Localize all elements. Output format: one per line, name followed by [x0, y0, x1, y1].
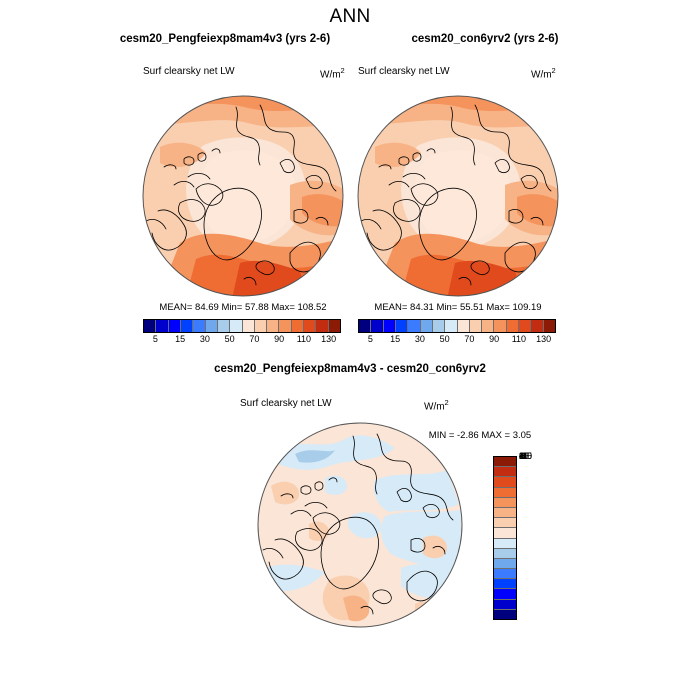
colorbar-tick-label: 5 [153, 334, 158, 344]
units-label-diff: W/m2 [424, 398, 449, 412]
colorbar-cell [292, 320, 304, 332]
variable-label-right: Surf clearsky net LW [358, 66, 450, 77]
colorbar-left [143, 319, 341, 333]
colorbar-tick-label: 90 [489, 334, 499, 344]
colorbar-cell [230, 320, 242, 332]
units-text-left: W/m [320, 69, 341, 80]
map-plot-diff [255, 420, 465, 630]
colorbar-cell [156, 320, 168, 332]
colorbar-cell [494, 508, 516, 518]
colorbar-cell [316, 320, 328, 332]
colorbar-tick-label: 110 [512, 334, 526, 344]
colorbar-cell [458, 320, 470, 332]
colorbar-cell [494, 477, 516, 487]
colorbar-tick-label: 130 [321, 334, 336, 344]
colorbar-tick-label: 130 [536, 334, 551, 344]
variable-label-left: Surf clearsky net LW [143, 66, 235, 77]
colorbar-tick-label: 70 [249, 334, 259, 344]
colorbar-cell [408, 320, 420, 332]
colorbar-tick-label: 70 [464, 334, 474, 344]
colorbar-tick-label: 30 [200, 334, 210, 344]
colorbar-left-ticks: 51530507090110130 [143, 334, 341, 346]
panel-title-diff: cesm20_Pengfeiexp8mam4v3 - cesm20_con6yr… [165, 363, 535, 375]
colorbar-tick-label: -20 [519, 451, 532, 461]
colorbar-cell [494, 518, 516, 528]
units-exponent-diff: 2 [445, 398, 449, 407]
colorbar-tick-label: 110 [297, 334, 311, 344]
colorbar-tick-label: 50 [225, 334, 235, 344]
colorbar-cell [169, 320, 181, 332]
colorbar-cell [144, 320, 156, 332]
panel-title-right: cesm20_con6yrv2 (yrs 2-6) [300, 33, 670, 45]
colorbar-cell [494, 320, 506, 332]
units-label-left: W/m2 [320, 66, 345, 80]
colorbar-cell [206, 320, 218, 332]
colorbar-cell [243, 320, 255, 332]
colorbar-tick-label: 90 [274, 334, 284, 344]
colorbar-cell [329, 320, 340, 332]
colorbar-cell [544, 320, 555, 332]
colorbar-cell [482, 320, 494, 332]
colorbar-cell [255, 320, 267, 332]
colorbar-cell [181, 320, 193, 332]
units-label-right: W/m2 [531, 66, 556, 80]
colorbar-cell [494, 457, 516, 467]
colorbar-cell [494, 600, 516, 610]
colorbar-cell [494, 467, 516, 477]
colorbar-cell [371, 320, 383, 332]
colorbar-cell [193, 320, 205, 332]
colorbar-cell [494, 610, 516, 619]
colorbar-cell [494, 498, 516, 508]
colorbar-cell [494, 549, 516, 559]
units-exponent-left: 2 [341, 66, 345, 75]
colorbar-cell [507, 320, 519, 332]
page-title: ANN [0, 6, 700, 28]
colorbar-cell [359, 320, 371, 332]
map-plot-right [355, 93, 561, 299]
colorbar-cell [279, 320, 291, 332]
stats-left: MEAN= 84.69 Min= 57.88 Max= 108.52 [140, 302, 346, 313]
colorbar-cell [433, 320, 445, 332]
colorbar-cell [396, 320, 408, 332]
colorbar-cell [494, 579, 516, 589]
colorbar-tick-label: 50 [440, 334, 450, 344]
colorbar-cell [267, 320, 279, 332]
colorbar-cell [494, 569, 516, 579]
colorbar-cell [421, 320, 433, 332]
colorbar-cell [218, 320, 230, 332]
colorbar-cell [494, 488, 516, 498]
units-text-diff: W/m [424, 401, 445, 412]
colorbar-tick-label: 15 [175, 334, 185, 344]
variable-label-diff: Surf clearsky net LW [240, 398, 332, 409]
colorbar-cell [494, 528, 516, 538]
stats-right: MEAN= 84.31 Min= 55.51 Max= 109.19 [355, 302, 561, 313]
units-exponent-right: 2 [552, 66, 556, 75]
colorbar-diff [493, 456, 517, 620]
colorbar-cell [445, 320, 457, 332]
colorbar-cell [531, 320, 543, 332]
colorbar-tick-label: 15 [390, 334, 400, 344]
colorbar-cell [519, 320, 531, 332]
colorbar-diff-ticks: 20151086420-2-4-6-8-10-15-20 [519, 456, 553, 618]
colorbar-cell [494, 559, 516, 569]
colorbar-tick-label: 5 [368, 334, 373, 344]
colorbar-right-ticks: 51530507090110130 [358, 334, 556, 346]
colorbar-tick-label: 30 [415, 334, 425, 344]
colorbar-cell [494, 589, 516, 599]
colorbar-cell [494, 539, 516, 549]
colorbar-cell [304, 320, 316, 332]
units-text-right: W/m [531, 69, 552, 80]
colorbar-cell [384, 320, 396, 332]
map-plot-left [140, 93, 346, 299]
colorbar-right [358, 319, 556, 333]
colorbar-cell [470, 320, 482, 332]
